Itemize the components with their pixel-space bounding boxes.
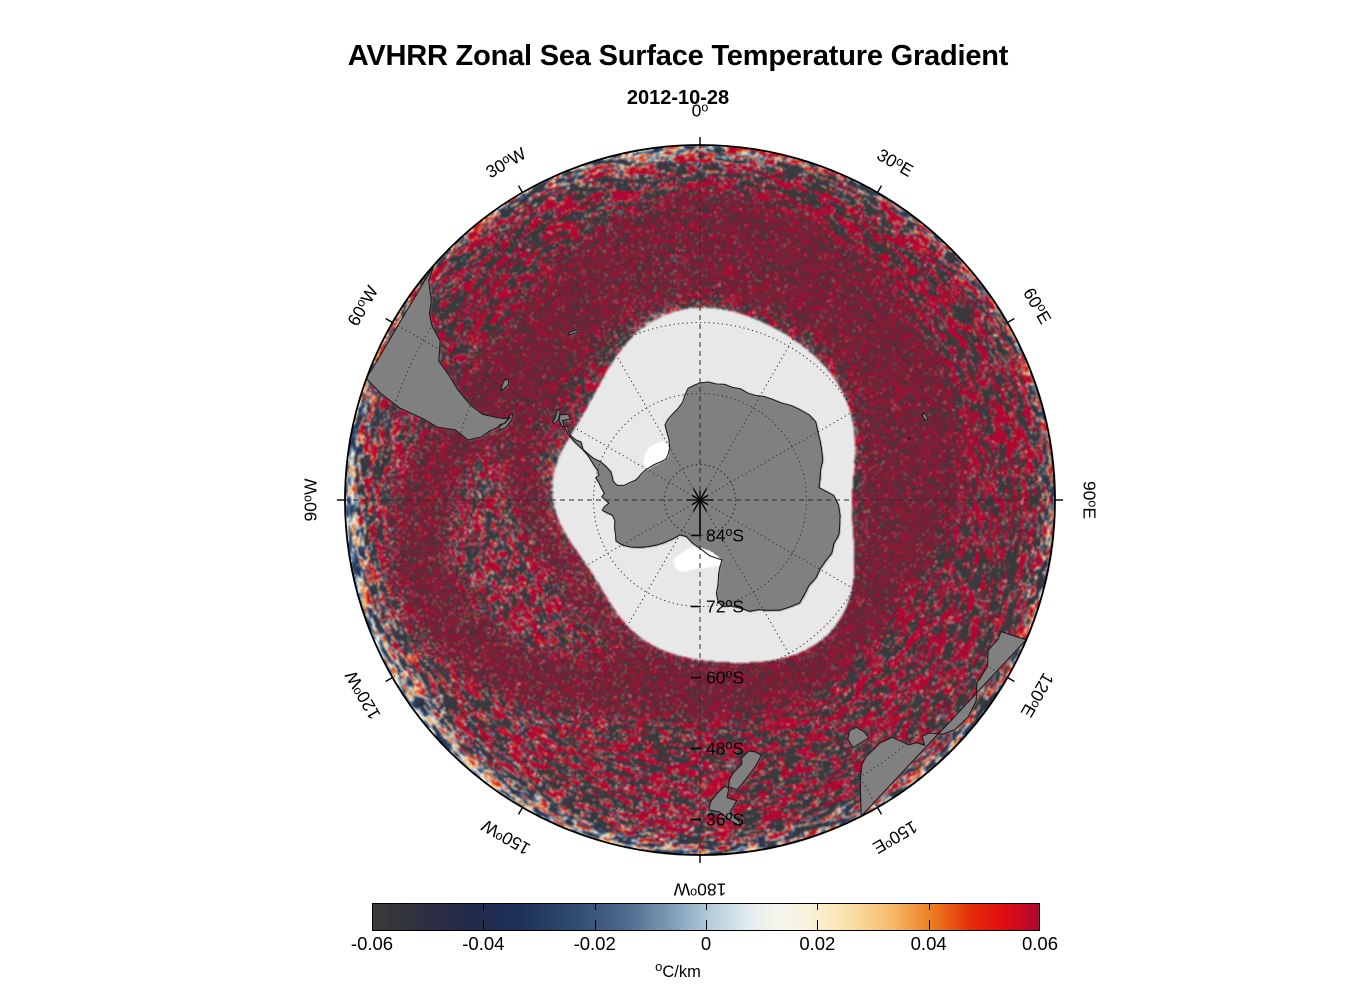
colorbar [372,903,1040,931]
colorbar-tick-top [483,903,484,910]
colorbar-tick-top [817,903,818,910]
figure-subtitle: 2012-10-28 [0,87,1356,110]
colorbar-tick-label: 0.02 [799,933,835,955]
longitude-label-90E: 90oE [1078,481,1099,519]
colorbar-tick-label: 0.04 [911,933,947,955]
polar-map-panel: 0o30oE60oE90oE120oE150oE180oW150oW120oW9… [330,130,1070,870]
colorbar-tick-label: -0.02 [574,933,616,955]
colorbar-tick [595,920,596,931]
colorbar-tick [929,920,930,931]
longitude-label-90W: 90oW [300,479,321,522]
colorbar-tick [483,920,484,931]
colorbar-tick-label: -0.06 [351,933,393,955]
colorbar-tick [817,920,818,931]
colorbar-tick-top [595,903,596,910]
longitude-label-180W: 180oW [674,878,727,899]
colorbar-tick [706,920,707,931]
figure-title: AVHRR Zonal Sea Surface Temperature Grad… [0,40,1356,73]
colorbar-tick-label: 0.06 [1022,933,1058,955]
colorbar-tick-label: 0 [701,933,711,955]
colorbar-tick-label: -0.04 [462,933,504,955]
colorbar-unit-label: oC/km [0,959,1356,982]
colorbar-tick-top [706,903,707,910]
map-overlay-vector [330,130,1070,870]
colorbar-tick-top [929,903,930,910]
